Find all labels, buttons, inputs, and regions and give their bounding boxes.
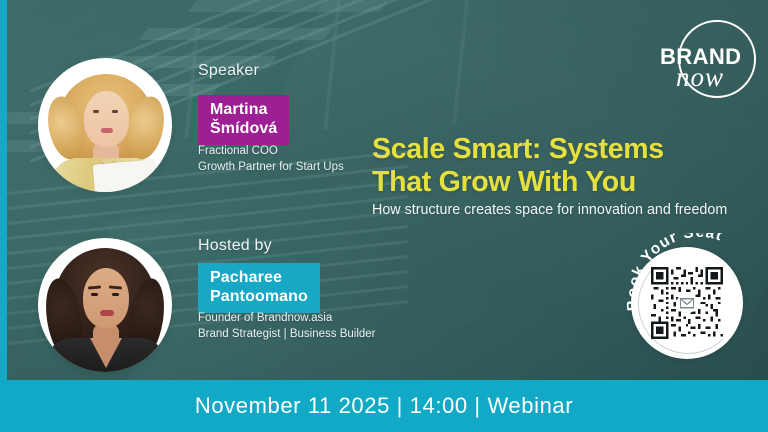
speaker-name-badge: Martina Šmídová xyxy=(198,95,289,145)
speaker-photo xyxy=(38,58,172,192)
qr-code-icon[interactable] xyxy=(651,267,723,339)
event-datetime-text: November 11 2025 | 14:00 | Webinar xyxy=(195,393,573,419)
left-accent-strip xyxy=(0,0,7,432)
speaker-label: Speaker xyxy=(198,62,259,80)
host-role: Founder of Brandnow.asia Brand Strategis… xyxy=(198,310,376,343)
speaker-role: Fractional COO Growth Partner for Start … xyxy=(198,143,344,176)
book-your-seat-qr-badge[interactable]: Book Your Seat xyxy=(631,247,743,359)
host-label: Hosted by xyxy=(198,237,272,255)
host-name-badge: Pacharee Pantoomano xyxy=(198,263,320,313)
host-photo xyxy=(38,238,172,372)
page-title: Scale Smart: Systems That Grow With You xyxy=(372,133,744,199)
webinar-promo-poster: Speaker Martina Šmídová Fractional COO G… xyxy=(0,0,768,432)
brand-logo-secondary: now xyxy=(676,62,724,93)
event-banner: November 11 2025 | 14:00 | Webinar xyxy=(0,380,768,432)
page-subtitle: How structure creates space for innovati… xyxy=(372,200,750,222)
brand-logo: BRAND now xyxy=(660,14,752,106)
